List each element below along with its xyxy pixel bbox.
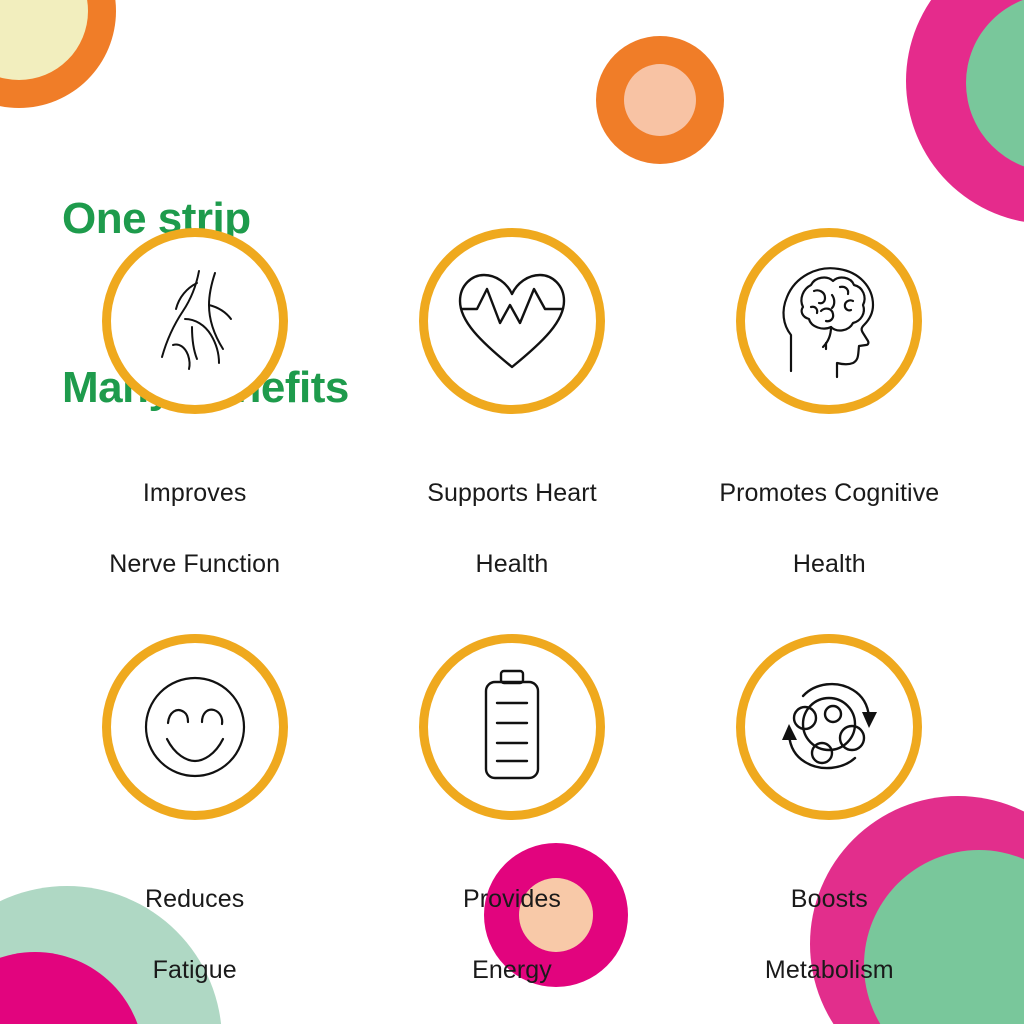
- benefit-label-line-2: Energy: [472, 956, 552, 984]
- benefit-label-metabolism: Boosts Metabolism: [765, 846, 894, 988]
- nerve-icon: [135, 261, 255, 381]
- benefit-label-line-2: Health: [793, 550, 866, 578]
- benefit-item-heart: Supports Heart Health: [353, 228, 670, 582]
- icon-ring-heart: [419, 228, 605, 414]
- benefit-label-line-2: Fatigue: [153, 956, 237, 984]
- benefit-label-energy: Provides Energy: [463, 846, 561, 988]
- benefit-item-energy: Provides Energy: [353, 634, 670, 988]
- top-right-circle-inner: [966, 0, 1024, 172]
- top-center-circle-inner: [624, 64, 696, 136]
- benefit-label-line-1: Promotes Cognitive: [719, 479, 939, 507]
- icon-ring-smiley: [102, 634, 288, 820]
- benefit-item-brain: Promotes Cognitive Health: [671, 228, 988, 582]
- benefit-label-line-2: Metabolism: [765, 956, 894, 984]
- heart-ecg-icon: [450, 261, 574, 381]
- icon-ring-battery: [419, 634, 605, 820]
- benefit-item-nerve: Improves Nerve Function: [36, 228, 353, 582]
- benefits-grid: Improves Nerve Function Supports Heart H…: [36, 228, 988, 988]
- battery-icon: [452, 665, 572, 789]
- arrow-head-up: [782, 724, 797, 740]
- benefit-label-heart: Supports Heart Health: [427, 440, 597, 582]
- top-center-circle-outer: [596, 36, 724, 164]
- icon-ring-nerve: [102, 228, 288, 414]
- benefit-label-line-1: Provides: [463, 885, 561, 913]
- smiley-face-icon: [135, 667, 255, 787]
- brain-head-icon: [769, 259, 889, 383]
- benefit-label-line-1: Improves: [143, 479, 247, 507]
- benefit-label-brain: Promotes Cognitive Health: [719, 440, 939, 582]
- benefit-label-fatigue: Reduces Fatigue: [145, 846, 244, 988]
- arrow-head-down: [862, 712, 877, 728]
- benefit-label-line-1: Boosts: [791, 885, 868, 913]
- top-right-circle-outer: [906, 0, 1024, 224]
- icon-ring-brain: [736, 228, 922, 414]
- metabolism-icon: [767, 666, 891, 788]
- top-left-circle-inner: [0, 0, 88, 80]
- benefit-item-metabolism: Boosts Metabolism: [671, 634, 988, 988]
- benefit-label-nerve: Improves Nerve Function: [109, 440, 280, 582]
- infographic-canvas: One strip Many benefits: [0, 0, 1024, 1024]
- icon-ring-metabolism: [736, 634, 922, 820]
- benefit-label-line-1: Reduces: [145, 885, 244, 913]
- benefit-label-line-2: Health: [476, 550, 549, 578]
- benefit-label-line-1: Supports Heart: [427, 479, 597, 507]
- benefit-item-fatigue: Reduces Fatigue: [36, 634, 353, 988]
- benefit-label-line-2: Nerve Function: [109, 550, 280, 578]
